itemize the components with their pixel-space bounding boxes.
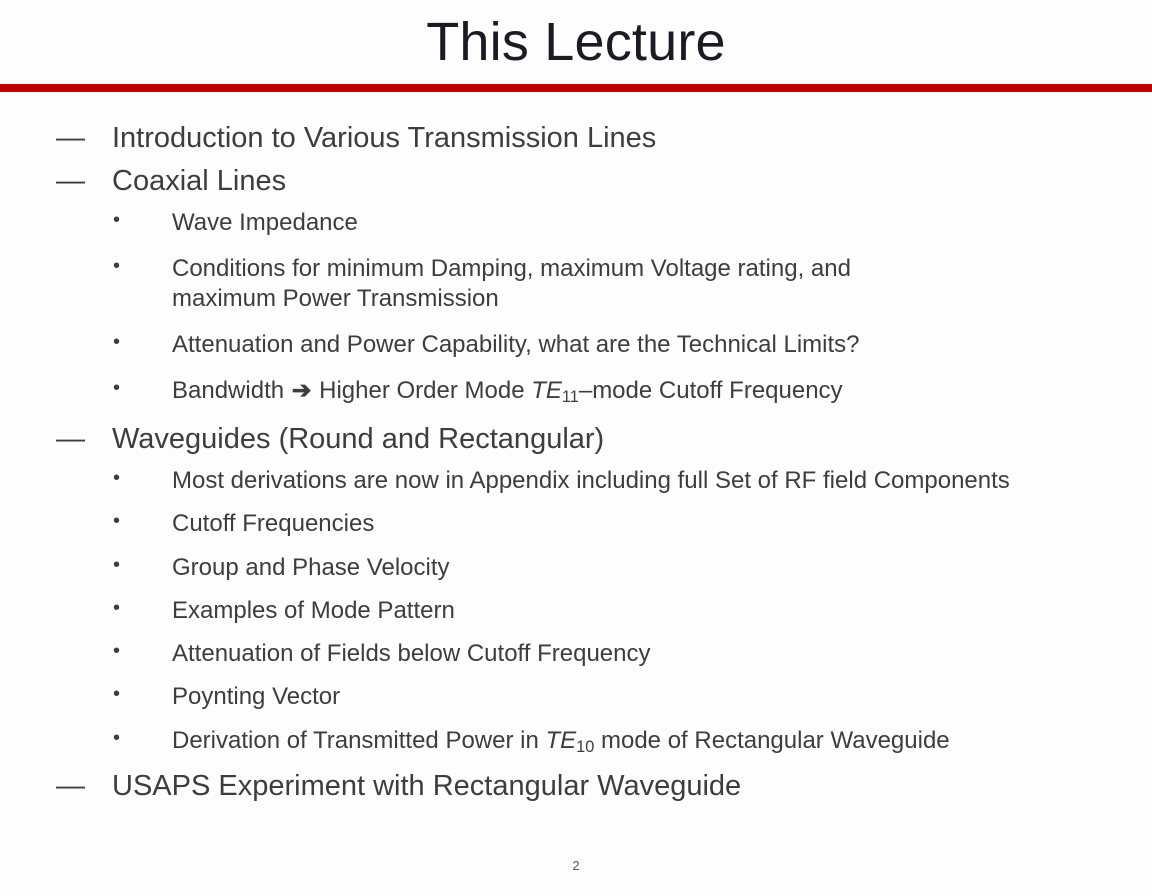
mode-subscript: 11 xyxy=(562,388,579,406)
outline-subitem-label: Attenuation of Fields below Cutoff Frequ… xyxy=(172,640,651,667)
list-item[interactable]: • Poynting Vector xyxy=(0,682,1152,711)
outline-subitem-label-line2: maximum Power Transmission xyxy=(172,284,1134,313)
list-item[interactable]: — USAPS Experiment with Rectangular Wave… xyxy=(0,772,1152,802)
slide: This Lecture — Introduction to Various T… xyxy=(0,0,1152,896)
list-item[interactable]: • Cutoff Frequencies xyxy=(0,509,1152,538)
outline-level2-list-waveguides: • Most derivations are now in Appendix i… xyxy=(0,466,1152,758)
page-title: This Lecture xyxy=(426,15,726,69)
outline-item-label: Coaxial Lines xyxy=(112,165,286,197)
dash-marker-icon: — xyxy=(56,772,82,801)
bullet-dot-icon: • xyxy=(113,330,129,356)
outline-level2-list-coaxial: • Wave Impedance • Conditions for minimu… xyxy=(0,208,1152,408)
bullet-dot-icon: • xyxy=(113,466,129,492)
outline-item-label: Waveguides (Round and Rectangular) xyxy=(112,423,604,455)
outline-subitem-label-suffix: mode of Rectangular Waveguide xyxy=(594,727,949,754)
outline-subitem-label: Poynting Vector xyxy=(172,683,340,710)
outline-subitem-label-prefix: Derivation of Transmitted Power in xyxy=(172,727,546,754)
list-item[interactable]: • Group and Phase Velocity xyxy=(0,553,1152,582)
bullet-dot-icon: • xyxy=(113,682,129,708)
outline-item-label: USAPS Experiment with Rectangular Wavegu… xyxy=(112,770,741,802)
right-arrow-icon: ➔ xyxy=(291,377,313,403)
list-item[interactable]: • Examples of Mode Pattern xyxy=(0,596,1152,625)
bullet-dot-icon: • xyxy=(113,596,129,622)
list-item[interactable]: • Derivation of Transmitted Power in TE1… xyxy=(0,726,1152,758)
list-item[interactable]: — Waveguides (Round and Rectangular) xyxy=(0,425,1152,455)
title-divider-rule xyxy=(0,84,1152,92)
outline-sublist-container: • Most derivations are now in Appendix i… xyxy=(0,466,1152,758)
outline-subitem-label: Most derivations are now in Appendix inc… xyxy=(172,467,1010,494)
bullet-dot-icon: • xyxy=(113,254,129,280)
outline-subitem-label-line1: Conditions for minimum Damping, maximum … xyxy=(172,254,1134,283)
outline-sublist-container: • Wave Impedance • Conditions for minimu… xyxy=(0,208,1152,408)
list-item[interactable]: • Attenuation and Power Capability, what… xyxy=(0,330,1152,359)
bullet-dot-icon: • xyxy=(113,553,129,579)
title-area: This Lecture xyxy=(0,0,1152,84)
bullet-dot-icon: • xyxy=(113,726,129,752)
bullet-dot-icon: • xyxy=(113,509,129,535)
list-item[interactable]: — Introduction to Various Transmission L… xyxy=(0,124,1152,154)
dash-marker-icon: — xyxy=(56,425,82,454)
list-item[interactable]: — Coaxial Lines xyxy=(0,167,1152,197)
outline-subitem-label: Group and Phase Velocity xyxy=(172,554,450,581)
outline-subitem-label-middle: Higher Order Mode xyxy=(312,377,531,404)
list-item[interactable]: • Bandwidth ➔ Higher Order Mode TE11–mod… xyxy=(0,376,1152,408)
outline-subitem-label: Examples of Mode Pattern xyxy=(172,597,455,624)
bullet-dot-icon: • xyxy=(113,639,129,665)
bullet-dot-icon: • xyxy=(113,376,129,402)
outline-subitem-label: Cutoff Frequencies xyxy=(172,510,374,537)
dash-marker-icon: — xyxy=(56,167,82,196)
mode-symbol: TE xyxy=(546,727,577,754)
list-item[interactable]: • Wave Impedance xyxy=(0,208,1152,237)
content-outline: — Introduction to Various Transmission L… xyxy=(0,124,1152,815)
list-item[interactable]: • Conditions for minimum Damping, maximu… xyxy=(0,254,1152,313)
outline-subitem-label: Attenuation and Power Capability, what a… xyxy=(172,331,860,358)
page-number: 2 xyxy=(0,858,1152,873)
bullet-dot-icon: • xyxy=(113,208,129,234)
outline-subitem-label-suffix: –mode Cutoff Frequency xyxy=(579,377,843,404)
dash-marker-icon: — xyxy=(56,124,82,153)
list-item[interactable]: • Most derivations are now in Appendix i… xyxy=(0,466,1152,495)
outline-subitem-label: Wave Impedance xyxy=(172,209,358,236)
outline-item-label: Introduction to Various Transmission Lin… xyxy=(112,122,656,154)
mode-symbol: TE xyxy=(531,377,562,404)
mode-subscript: 10 xyxy=(576,738,594,756)
outline-level1-list: — Introduction to Various Transmission L… xyxy=(0,124,1152,802)
outline-subitem-label-prefix: Bandwidth xyxy=(172,377,291,404)
list-item[interactable]: • Attenuation of Fields below Cutoff Fre… xyxy=(0,639,1152,668)
